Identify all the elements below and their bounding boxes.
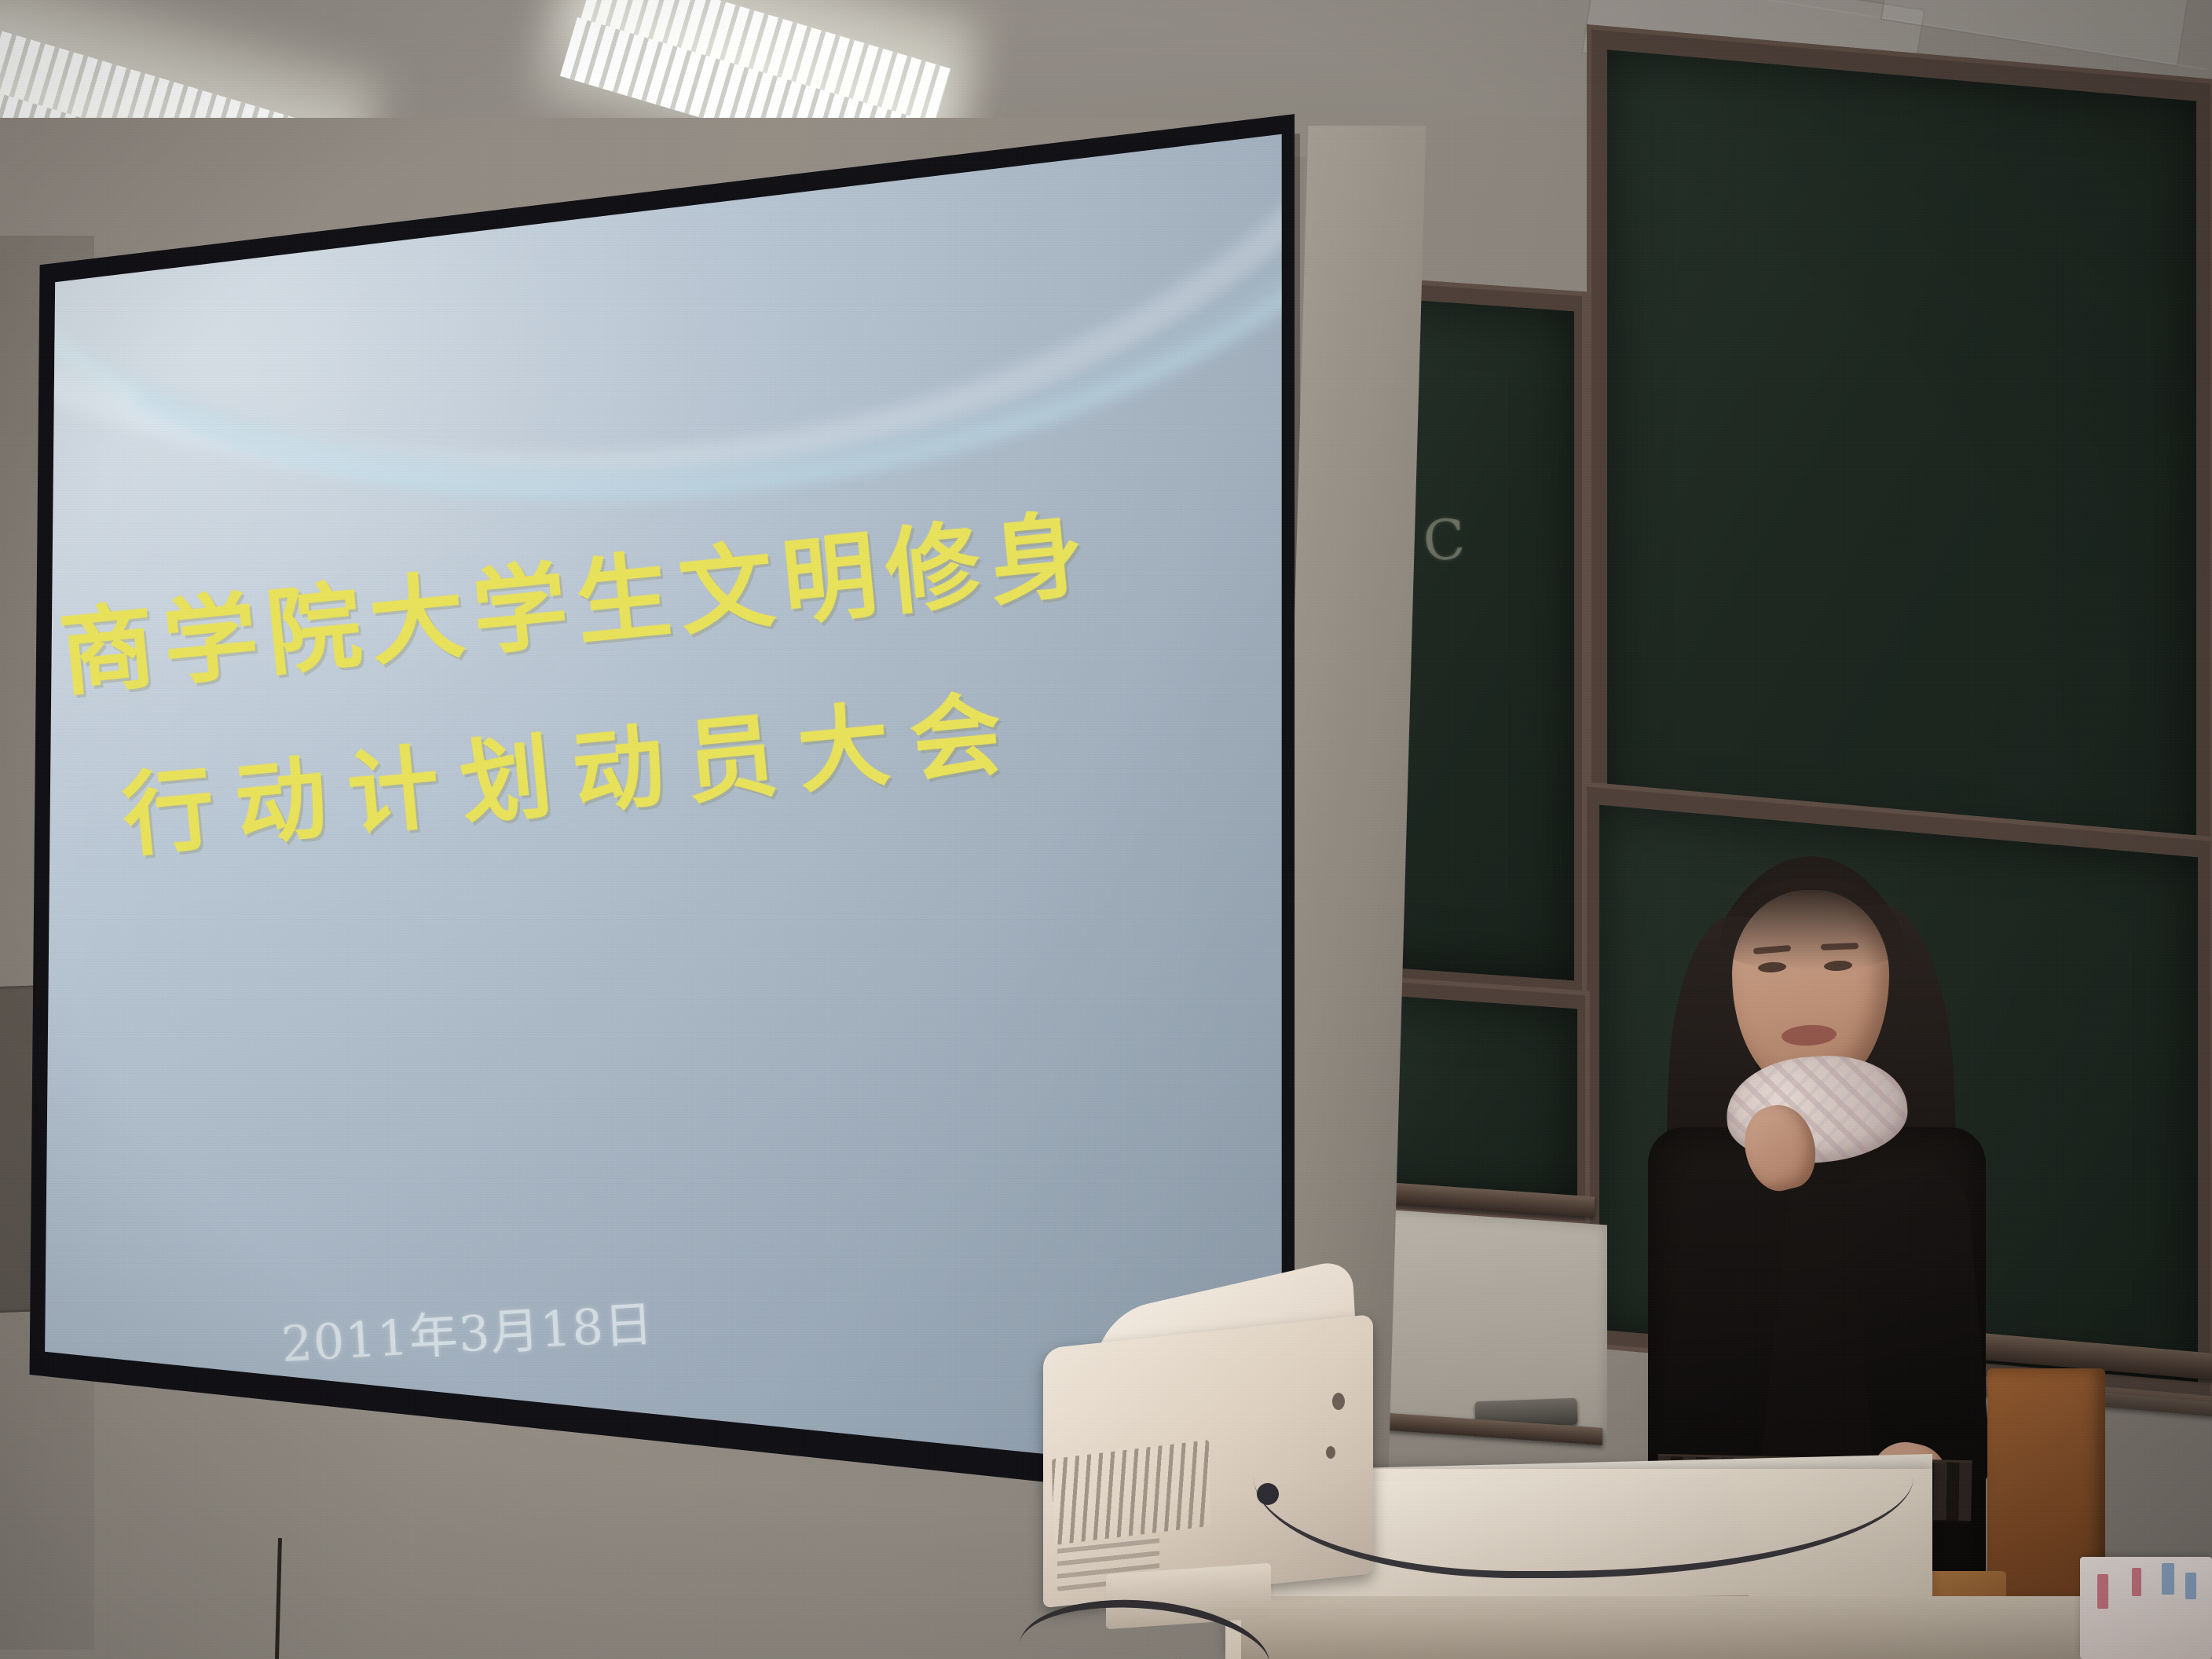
chalkboard-right-upper xyxy=(1607,49,2196,865)
monitor-screw xyxy=(1326,1446,1335,1459)
paper-mark xyxy=(2097,1574,2108,1609)
eyebrow-right xyxy=(1821,943,1859,950)
classroom-photo-scene: x³ C 商学院大学生文明修身 行动计划动员大会 2011年3月18日 xyxy=(0,0,2212,1659)
paper-mark-blue xyxy=(2185,1573,2196,1599)
paper-mark xyxy=(2132,1568,2141,1596)
monitor-screw xyxy=(1332,1393,1345,1410)
paper-mark-blue xyxy=(2162,1563,2174,1595)
cable-connector xyxy=(1257,1483,1279,1505)
papers-stack[interactable] xyxy=(2080,1557,2212,1659)
crt-monitor[interactable] xyxy=(1012,1292,1436,1630)
